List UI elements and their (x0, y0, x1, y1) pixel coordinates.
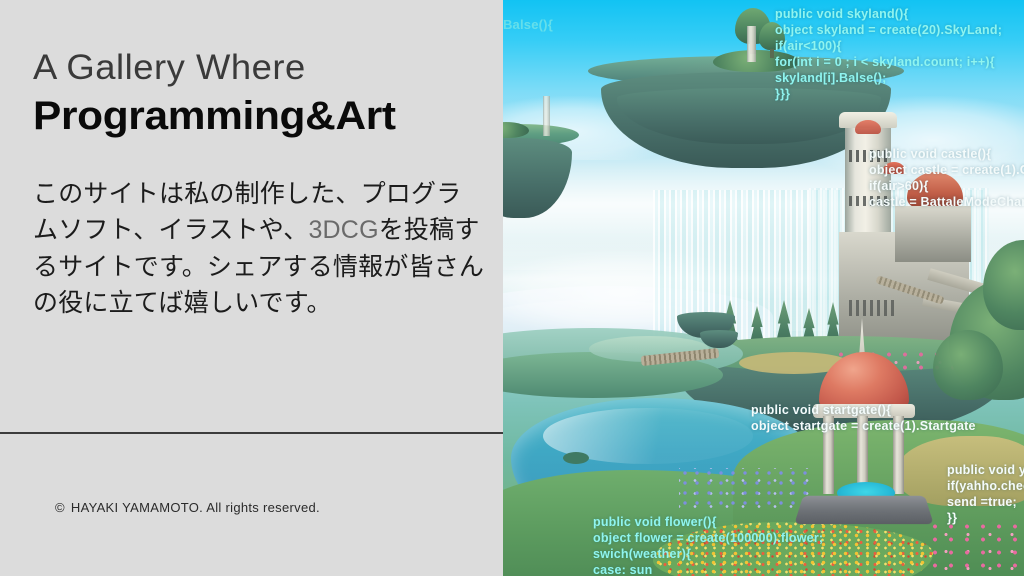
flower-field (653, 522, 933, 576)
castle-ramp (922, 296, 1022, 323)
headline-line-1: A Gallery Where (33, 48, 501, 88)
foreground-pink-flowers (927, 520, 1017, 576)
cloud-shape (503, 250, 773, 330)
foreground-tree-cluster (983, 240, 1024, 330)
lake (511, 398, 811, 548)
island-spire (543, 96, 550, 136)
foreground-grass (733, 420, 1024, 576)
gazebo-spire (855, 318, 869, 358)
castle-windows (849, 300, 895, 316)
foreground-tree-cluster (933, 330, 1003, 400)
tower-roof (855, 120, 881, 134)
cloud-shape (623, 58, 883, 128)
code-overlay-startgate: public void startgate(){ object startgat… (751, 402, 976, 434)
island-foliage (713, 50, 799, 72)
floating-island (503, 124, 579, 220)
island-meadow-patch (739, 352, 849, 374)
cloud-shape (503, 96, 683, 160)
headline-line-2: Programming&Art (33, 92, 510, 140)
cloud-band (503, 150, 1024, 270)
island-flowers (833, 348, 1023, 374)
code-overlay-flower: public void flower(){ object flower = cr… (593, 514, 823, 576)
tree (759, 22, 785, 58)
gazebo-pool (837, 482, 895, 504)
intro-highlight-3dcg: 3DCG (308, 216, 378, 244)
stone-bridge (875, 275, 944, 304)
footer-divider (0, 432, 503, 434)
floating-rock (697, 330, 741, 348)
island-spire (747, 26, 756, 62)
tower-roof (883, 162, 905, 174)
distant-ridge (503, 300, 713, 360)
page-title: A Gallery Where Programming&Art (33, 48, 483, 140)
slide-root: A Gallery Where Programming&Art このサイトは私の… (0, 0, 1024, 576)
cloud-band (503, 236, 1024, 331)
foreground-grass (503, 470, 833, 576)
stone-bridge (641, 348, 720, 366)
copyright-notice: ©HAYAKI YAMAMOTO. All rights reserved. (55, 500, 320, 515)
conifer-tree (799, 308, 819, 356)
gazebo-pillar (893, 416, 904, 494)
waterfall (809, 188, 989, 366)
gazebo-pillar (857, 416, 868, 498)
castle-tower-cap (839, 112, 897, 128)
distant-terrace (503, 328, 743, 380)
island-meadow (679, 336, 999, 372)
code-overlay-castle: public void castle(){ object castle = cr… (869, 146, 1024, 210)
waterfall (653, 190, 983, 348)
intro-paragraph: このサイトは私の制作した、プログラムソフト、イラストや、3DCGを投稿するサイト… (33, 176, 485, 321)
gazebo-pillar (823, 416, 834, 494)
castle-tower (845, 122, 891, 346)
floating-island-main-shadow (599, 88, 899, 144)
foreground-tree-cluster (949, 280, 1024, 400)
text-panel: A Gallery Where Programming&Art このサイトは私の… (0, 0, 503, 576)
code-overlay-skyland: public void skyland(){ object skyland = … (775, 6, 1002, 102)
code-overlay-balse: d Balse(){ (503, 17, 553, 34)
tower-windows (849, 150, 887, 162)
hero-illustration: d Balse(){ public void skyland(){ object… (503, 0, 1024, 576)
code-overlay-yahho: public void ya if(yahho.chec send =true;… (947, 462, 1024, 526)
floating-island-castle (653, 340, 1024, 438)
lake-reflection (543, 408, 753, 464)
cloud-shape (803, 96, 1024, 176)
waterfall-mist (643, 300, 983, 390)
floating-rock (673, 312, 739, 338)
castle-ramp (927, 268, 1023, 306)
gazebo-dome (819, 352, 909, 414)
castle-body (839, 232, 969, 352)
gazebo-base (813, 404, 915, 418)
island-foliage (503, 122, 529, 138)
distant-terrace (589, 336, 709, 362)
tower-windows (849, 196, 887, 206)
hillside-sand (897, 436, 1024, 506)
conifer-tree (823, 302, 843, 356)
copyright-text: HAYAKI YAMAMOTO. All rights reserved. (71, 500, 320, 515)
conifer-tree (773, 300, 795, 356)
distant-ridge (503, 286, 773, 364)
tree (735, 8, 771, 54)
gazebo-plinth (794, 496, 933, 524)
conifer-tree (747, 306, 767, 356)
lake-islet (563, 452, 589, 464)
copyright-icon: © (55, 500, 65, 515)
conifer-tree (719, 300, 741, 356)
floating-island-main (581, 56, 911, 174)
castle-body (895, 206, 971, 262)
lakeside-flowers (679, 468, 809, 508)
castle-dome (907, 172, 963, 208)
distant-terrace (503, 352, 723, 398)
